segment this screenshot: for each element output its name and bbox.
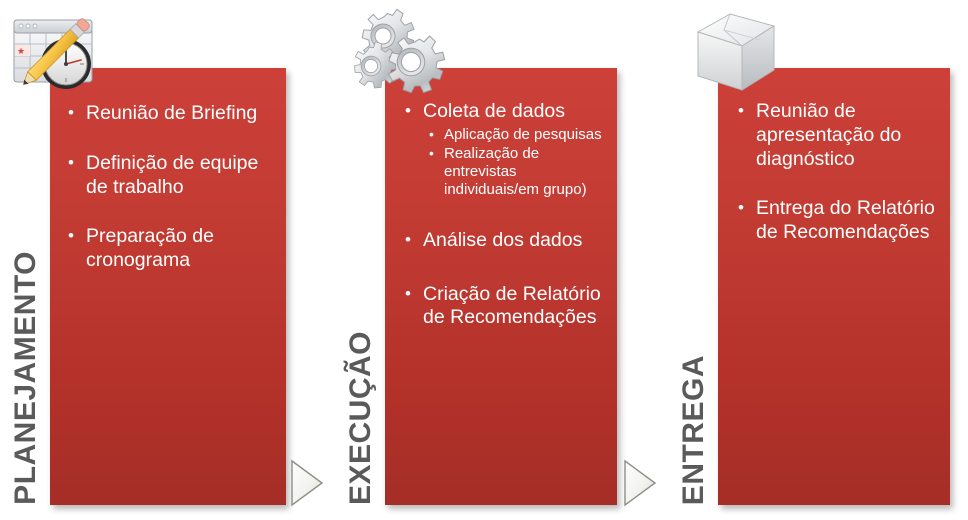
arrow-right-icon	[621, 458, 659, 508]
list-item: Análise dos dados	[405, 229, 607, 253]
bullet-text: Preparação de cronograma	[86, 225, 214, 271]
phase-panel[interactable]: Reunião de apresentação do diagnóstico E…	[718, 68, 950, 505]
list-item: Reunião de apresentação do diagnóstico	[738, 100, 940, 171]
diagram-canvas: Reunião de Briefing Definição de equipe …	[0, 0, 968, 520]
sub-list-item: Realização de entrevistas individuais/em…	[429, 145, 607, 199]
gears-icon	[343, 2, 447, 103]
list-item: Criação de Relatório de Recomendações	[405, 283, 607, 331]
phase-panel[interactable]: Reunião de Briefing Definição de equipe …	[50, 68, 286, 505]
calendar-clock-pencil-icon: ★	[4, 4, 108, 105]
bullet-text: Análise dos dados	[423, 229, 582, 251]
phase-entrega[interactable]: Reunião de apresentação do diagnóstico E…	[668, 0, 968, 520]
list-item: Definição de equipe de trabalho	[68, 152, 276, 200]
bullet-text: Definição de equipe de trabalho	[86, 152, 258, 198]
bullet-text: Reunião de apresentação do diagnóstico	[756, 100, 901, 170]
package-box-icon	[684, 4, 788, 105]
list-item: Preparação de cronograma	[68, 225, 276, 273]
list-item: Reunião de Briefing	[68, 102, 276, 126]
phase-execucao[interactable]: Coleta de dados Aplicação de pesquisas R…	[335, 0, 675, 520]
phase-bullet-list: Reunião de Briefing Definição de equipe …	[68, 102, 276, 273]
phase-label-text: ENTREGA	[679, 351, 709, 505]
bullet-text: Entrega do Relatório de Recomendações	[756, 197, 935, 243]
phase-bullet-list: Reunião de apresentação do diagnóstico E…	[738, 100, 940, 245]
phase-label-text: EXECUÇÃO	[346, 327, 376, 505]
bullet-text: Reunião de Briefing	[86, 102, 257, 124]
svg-text:★: ★	[17, 46, 25, 56]
arrow-right-icon	[288, 458, 326, 508]
phase-label: EXECUÇÃO	[335, 68, 387, 505]
bullet-text: Coleta de dados	[423, 100, 565, 122]
sub-bullet-list: Aplicação de pesquisas Realização de ent…	[423, 126, 607, 199]
phase-label: PLANEJAMENTO	[0, 68, 52, 505]
phase-planejamento[interactable]: Reunião de Briefing Definição de equipe …	[0, 0, 340, 520]
phase-label-text: PLANEJAMENTO	[11, 247, 41, 505]
phase-label: ENTREGA	[668, 68, 720, 505]
list-item: Entrega do Relatório de Recomendações	[738, 197, 940, 245]
phase-bullet-list: Coleta de dados Aplicação de pesquisas R…	[405, 100, 607, 360]
list-item: Coleta de dados Aplicação de pesquisas R…	[405, 100, 607, 199]
sub-list-item: Aplicação de pesquisas	[429, 126, 607, 144]
phase-panel[interactable]: Coleta de dados Aplicação de pesquisas R…	[385, 68, 617, 505]
bullet-text: Criação de Relatório de Recomendações	[423, 283, 601, 329]
